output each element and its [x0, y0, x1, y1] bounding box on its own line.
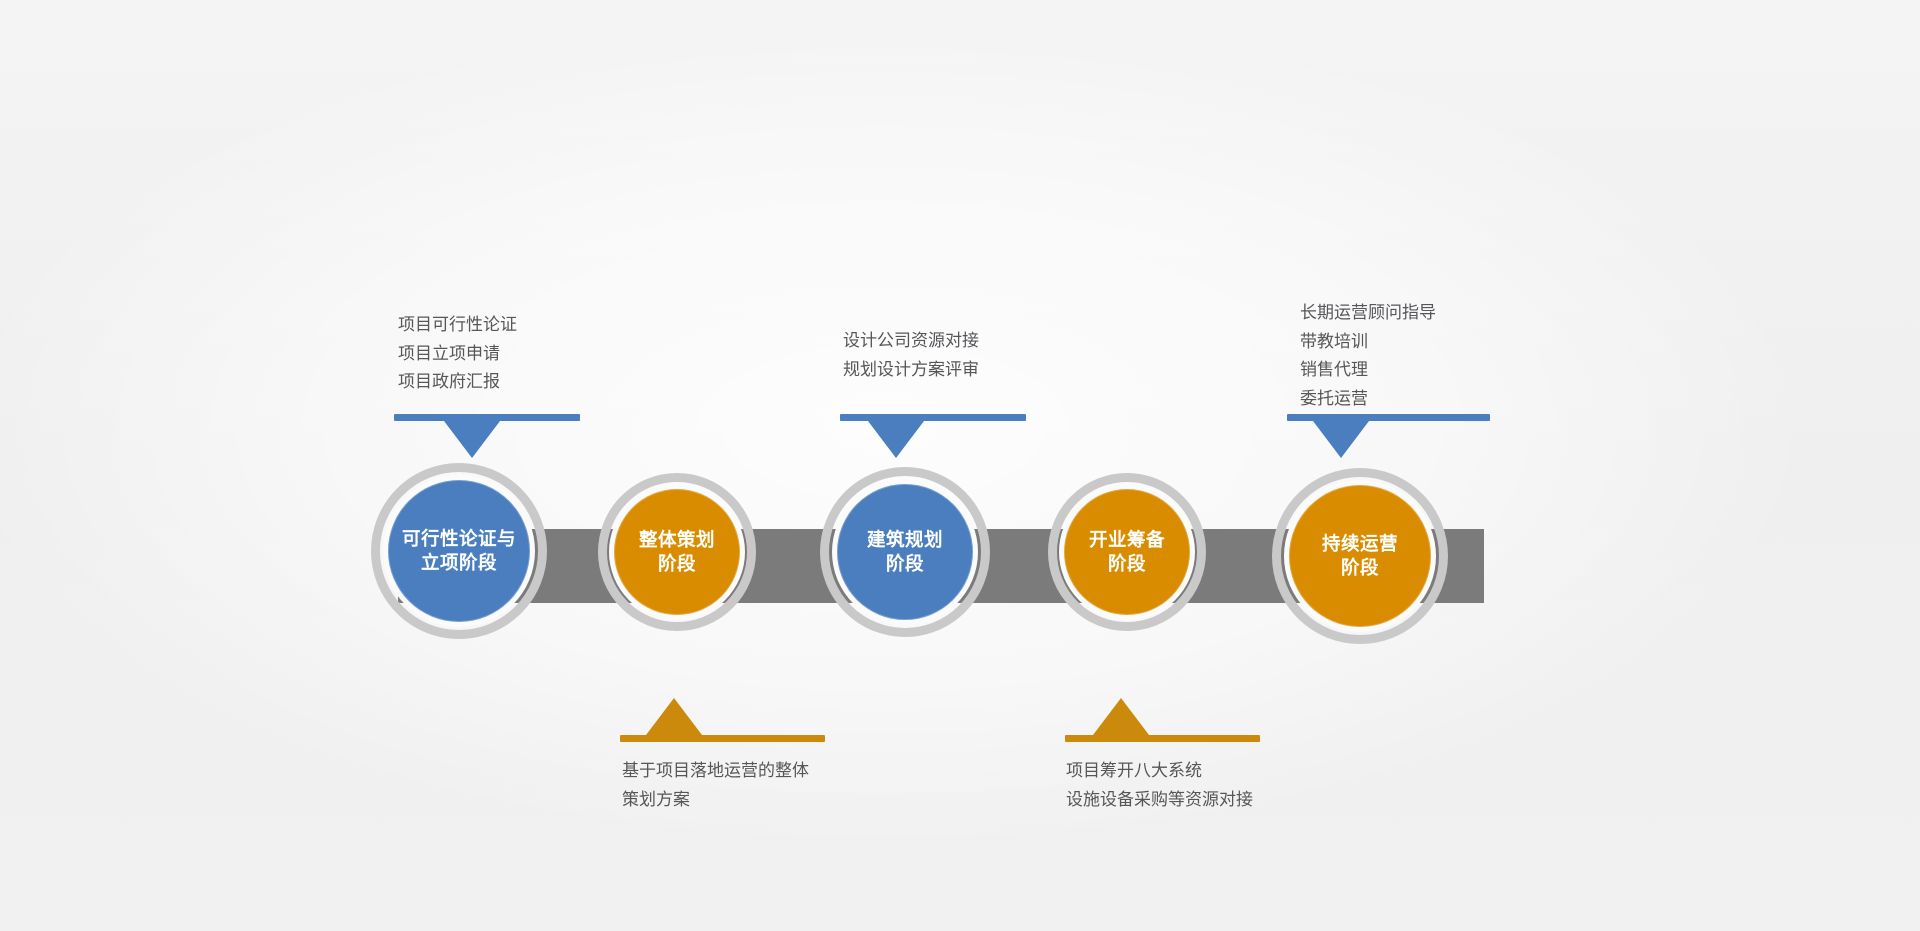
stage-node-1[interactable]: 可行性论证与 立项阶段 — [388, 480, 530, 622]
callout-1-line-1: 项目可行性论证 — [398, 311, 517, 340]
callout-2-text: 基于项目落地运营的整体 策划方案 — [622, 757, 809, 814]
callout-5-arrow-down-icon — [1313, 421, 1369, 458]
callout-2-arrow-up-icon — [646, 698, 702, 735]
callout-3-line-1: 设计公司资源对接 — [843, 327, 979, 356]
callout-5-line-2: 带教培训 — [1300, 328, 1436, 357]
callout-4-line-1: 项目筹开八大系统 — [1066, 757, 1253, 786]
stage-node-3[interactable]: 建筑规划 阶段 — [837, 484, 973, 620]
stage-node-4[interactable]: 开业筹备 阶段 — [1064, 489, 1190, 615]
callout-5-line-4: 委托运营 — [1300, 385, 1436, 414]
callout-5-rule — [1287, 414, 1490, 421]
callout-1-line-2: 项目立项申请 — [398, 340, 517, 369]
callout-1-arrow-down-icon — [444, 421, 500, 458]
callout-1-text: 项目可行性论证 项目立项申请 项目政府汇报 — [398, 311, 517, 397]
background-vignette — [0, 0, 1920, 931]
world-map-background — [140, 28, 1840, 908]
callout-5-line-3: 销售代理 — [1300, 356, 1436, 385]
callout-2-rule — [620, 735, 825, 742]
callout-4-line-2: 设施设备采购等资源对接 — [1066, 786, 1253, 815]
callout-4-rule — [1065, 735, 1260, 742]
callout-3-arrow-down-icon — [868, 421, 924, 458]
callout-4-text: 项目筹开八大系统 设施设备采购等资源对接 — [1066, 757, 1253, 814]
callout-3-line-2: 规划设计方案评审 — [843, 356, 979, 385]
callout-2-line-2: 策划方案 — [622, 786, 809, 815]
diagram-canvas: 可行性论证与 立项阶段 整体策划 阶段 建筑规划 阶段 开业筹备 阶段 持续运营… — [0, 0, 1920, 931]
callout-5-text: 长期运营顾问指导 带教培训 销售代理 委托运营 — [1300, 299, 1436, 413]
callout-2-line-1: 基于项目落地运营的整体 — [622, 757, 809, 786]
callout-1-rule — [394, 414, 580, 421]
stage-node-5[interactable]: 持续运营 阶段 — [1289, 485, 1431, 627]
callout-3-text: 设计公司资源对接 规划设计方案评审 — [843, 327, 979, 384]
callout-1-line-3: 项目政府汇报 — [398, 368, 517, 397]
callout-5-line-1: 长期运营顾问指导 — [1300, 299, 1436, 328]
callout-3-rule — [840, 414, 1026, 421]
stage-node-2[interactable]: 整体策划 阶段 — [614, 489, 740, 615]
callout-4-arrow-up-icon — [1093, 698, 1149, 735]
